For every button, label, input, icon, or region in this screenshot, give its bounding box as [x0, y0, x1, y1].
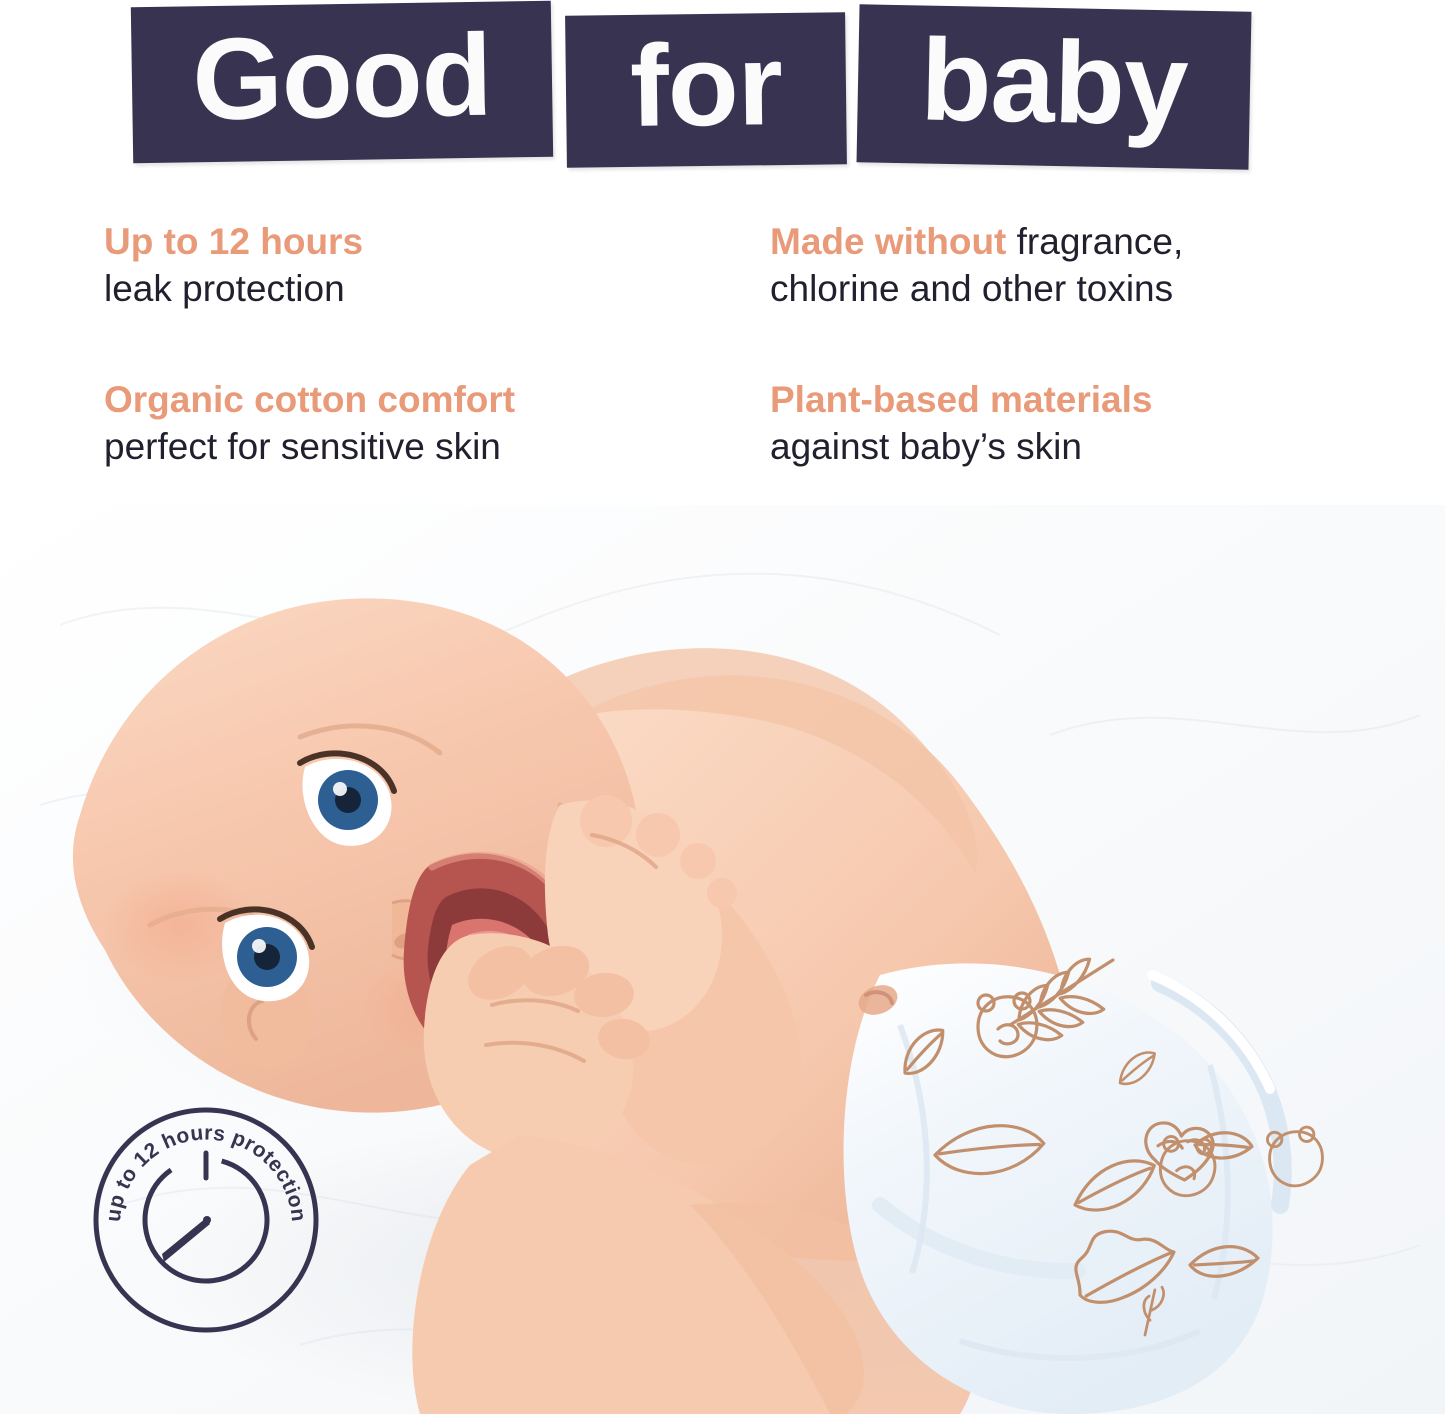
feature-item-organic-cotton: Organic cotton comfort perfect for sensi… [104, 377, 724, 470]
feature-highlight: Organic cotton comfort [104, 379, 515, 420]
product-feature-panel: Good for baby Up to 12 hours leak protec… [0, 0, 1445, 1414]
feature-item-made-without: Made without fragrance, chlorine and oth… [770, 219, 1330, 312]
feature-subtext: perfect for sensitive skin [104, 426, 501, 467]
feature-highlight: Made without [770, 221, 1006, 262]
feature-subtext: chlorine and other toxins [770, 268, 1173, 309]
protection-badge: up to 12 hours protection [92, 1106, 320, 1334]
feature-highlight: Up to 12 hours [104, 221, 363, 262]
headline-word-1: Good [192, 17, 493, 138]
headline-word-3: baby [920, 21, 1189, 142]
feature-subtext: against baby’s skin [770, 426, 1082, 467]
feature-subtext: leak protection [104, 268, 345, 309]
stopwatch-timer-icon: up to 12 hours protection [92, 1106, 320, 1334]
feature-highlight: Plant-based materials [770, 379, 1152, 420]
feature-rest: fragrance, [1006, 221, 1183, 262]
headline-word-2: for [629, 26, 782, 144]
headline-banner-baby: baby [857, 4, 1252, 169]
feature-item-leak-protection: Up to 12 hours leak protection [104, 219, 724, 312]
headline-banner-group: Good for baby [0, 0, 1445, 185]
feature-item-plant-based: Plant-based materials against baby’s ski… [770, 377, 1330, 470]
feature-list: Up to 12 hours leak protection Made with… [0, 205, 1445, 505]
headline-banner-for: for [565, 12, 847, 167]
headline-banner-good: Good [131, 1, 553, 164]
